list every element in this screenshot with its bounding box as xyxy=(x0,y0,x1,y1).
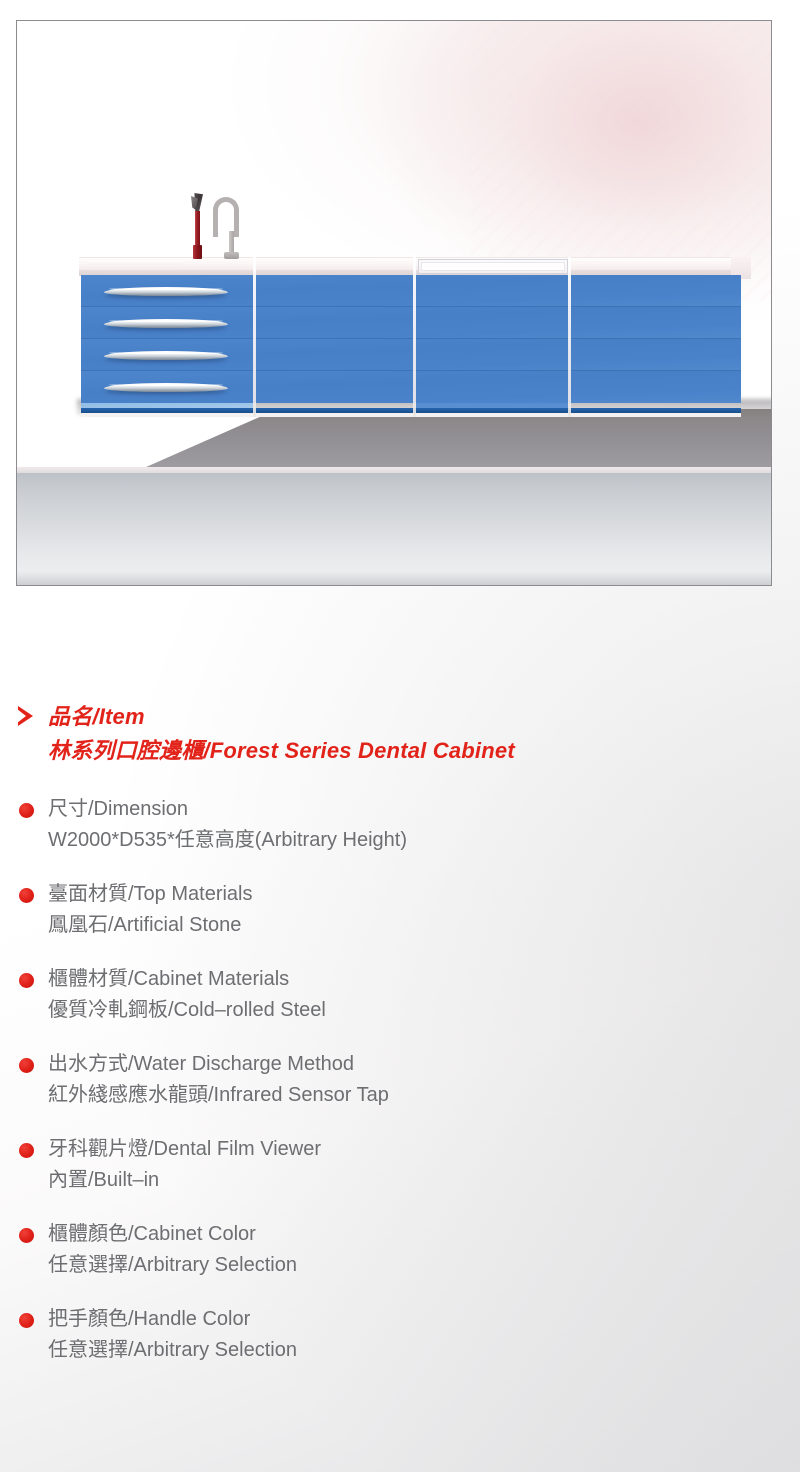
dental-syringe-icon xyxy=(191,193,205,259)
spec-label: 櫃體材質/Cabinet Materials xyxy=(48,964,800,995)
bullet-dot-icon xyxy=(19,973,34,988)
bullet-dot-icon xyxy=(19,803,34,818)
spec-item-label: 品名/Item xyxy=(48,700,800,734)
dental-cabinet xyxy=(81,275,741,413)
bullet-dot-icon xyxy=(19,1228,34,1243)
dental-film-viewer-panel xyxy=(418,259,568,274)
bullet-dot-icon xyxy=(19,1143,34,1158)
bullet-dot-icon xyxy=(19,888,34,903)
spec-label: 牙科觀片燈/Dental Film Viewer xyxy=(48,1134,800,1165)
spec-value: 優質冷軋鋼板/Cold–rolled Steel xyxy=(48,995,800,1026)
spec-value: 內置/Built–in xyxy=(48,1165,800,1196)
countertop-left-seam xyxy=(87,261,183,265)
arrow-right-icon xyxy=(18,706,33,726)
spec-value: 紅外綫感應水龍頭/Infrared Sensor Tap xyxy=(48,1080,800,1111)
spec-row: 出水方式/Water Discharge Method 紅外綫感應水龍頭/Inf… xyxy=(0,1049,800,1111)
spec-label: 臺面材質/Top Materials xyxy=(48,879,800,910)
drawer xyxy=(81,371,741,403)
spec-value: 鳳凰石/Artificial Stone xyxy=(48,910,800,941)
syringe-grip xyxy=(193,245,202,259)
spec-row: 臺面材質/Top Materials 鳳凰石/Artificial Stone xyxy=(0,879,800,941)
drawer-handle xyxy=(104,383,228,392)
drawer-handle xyxy=(104,319,228,328)
spec-value: W2000*D535*任意高度(Arbitrary Height) xyxy=(48,825,800,856)
drawer-handle xyxy=(104,287,228,296)
film-viewer-lightbox xyxy=(421,262,565,271)
spec-value: 任意選擇/Arbitrary Selection xyxy=(48,1250,800,1281)
drawer xyxy=(81,339,741,371)
infrared-sensor-tap-icon xyxy=(185,193,243,261)
cabinet-drawer-bank-right xyxy=(81,403,251,531)
cabinet-module-divider xyxy=(413,257,416,417)
bullet-dot-icon xyxy=(19,1058,34,1073)
drawer xyxy=(81,307,741,339)
bullet-dot-icon xyxy=(19,1313,34,1328)
spec-label: 出水方式/Water Discharge Method xyxy=(48,1049,800,1080)
spec-row: 把手顏色/Handle Color 任意選擇/Arbitrary Selecti… xyxy=(0,1304,800,1366)
spec-label: 尺寸/Dimension xyxy=(48,794,800,825)
spec-row: 牙科觀片燈/Dental Film Viewer 內置/Built–in xyxy=(0,1134,800,1196)
drawer-handle xyxy=(104,351,228,360)
spec-item-value: 林系列口腔邊櫃/Forest Series Dental Cabinet xyxy=(48,734,800,768)
product-image-frame xyxy=(16,20,772,586)
floor-bottom-shade xyxy=(17,571,771,585)
spec-row: 尺寸/Dimension W2000*D535*任意高度(Arbitrary H… xyxy=(0,794,800,856)
cabinet-module-divider xyxy=(568,257,571,417)
spec-row: 櫃體材質/Cabinet Materials 優質冷軋鋼板/Cold–rolle… xyxy=(0,964,800,1026)
spec-value: 任意選擇/Arbitrary Selection xyxy=(48,1335,800,1366)
cabinet-module-divider xyxy=(253,257,256,417)
spec-label: 把手顏色/Handle Color xyxy=(48,1304,800,1335)
gooseneck-faucet-icon xyxy=(213,197,239,259)
spec-row: 櫃體顏色/Cabinet Color 任意選擇/Arbitrary Select… xyxy=(0,1219,800,1281)
specification-list: 品名/Item 林系列口腔邊櫃/Forest Series Dental Cab… xyxy=(0,700,800,1389)
spec-label: 櫃體顏色/Cabinet Color xyxy=(48,1219,800,1250)
faucet-neck xyxy=(213,197,239,237)
cabinet-toe-edge xyxy=(81,413,741,417)
faucet-base xyxy=(224,252,239,259)
product-scene xyxy=(17,21,771,585)
drawer xyxy=(81,275,741,307)
spec-item-heading: 品名/Item 林系列口腔邊櫃/Forest Series Dental Cab… xyxy=(0,700,800,768)
